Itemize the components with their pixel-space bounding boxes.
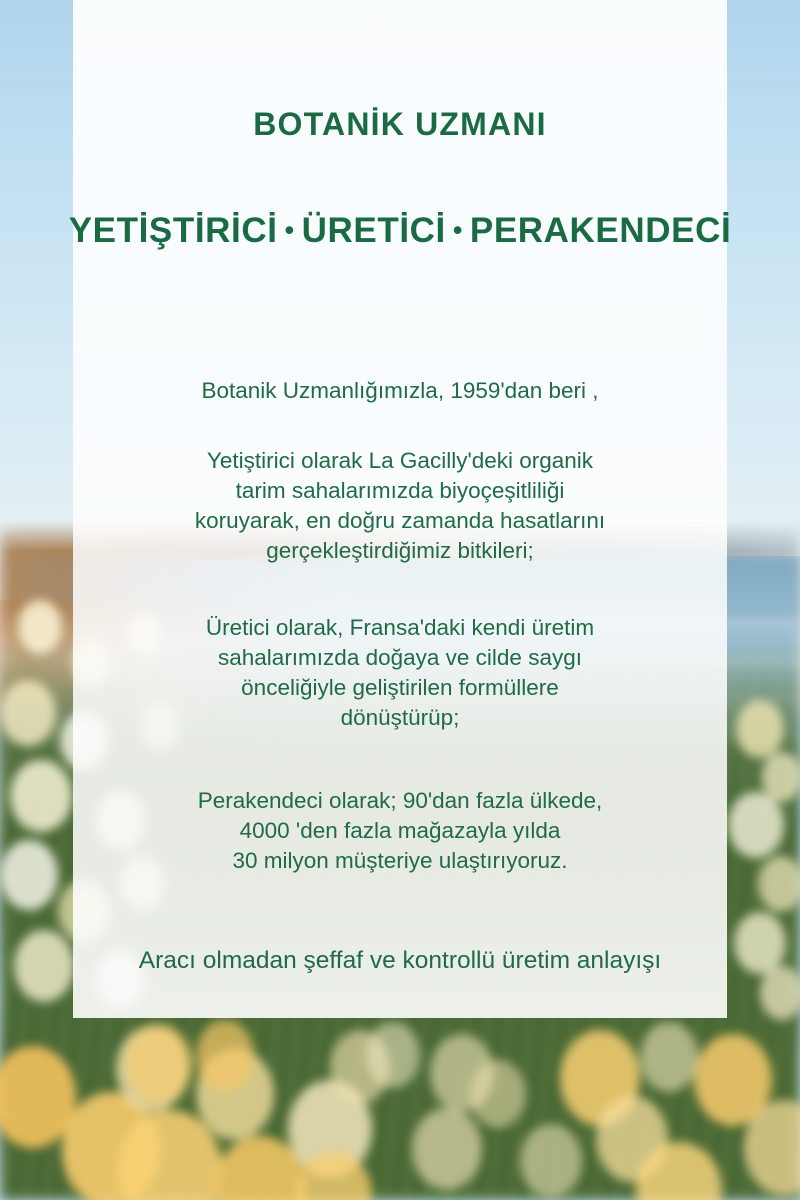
subtitle-part-producer: ÜRETİCİ: [302, 211, 446, 250]
paragraph-line: Yetiştirici olarak La Gacilly'deki organ…: [73, 446, 727, 476]
subtitle-part-retailer: PERAKENDECİ: [470, 211, 731, 250]
paragraph-line: Botanik Uzmanlığımızla, 1959'dan beri ,: [73, 376, 727, 406]
subtitle-separator-1: •: [278, 215, 302, 245]
paragraph-line: sahalarımızda doğaya ve cilde saygı: [73, 643, 727, 673]
paragraph-line: 4000 'den fazla mağazayla yılda: [73, 816, 727, 846]
closing-statement: Aracı olmadan şeffaf ve kontrollü üretim…: [73, 945, 727, 977]
paragraph-line: önceliğiyle geliştirilen formüllere: [73, 673, 727, 703]
subtitle-part-grower: YETİŞTİRİCİ: [69, 211, 278, 250]
subtitle-separator-2: •: [446, 215, 470, 245]
poster-root: BOTANİK UZMANI YETİŞTİRİCİ•ÜRETİCİ•PERAK…: [0, 0, 800, 1200]
subtitle-row: YETİŞTİRİCİ•ÜRETİCİ•PERAKENDECİ: [0, 211, 800, 251]
page-title: BOTANİK UZMANI: [0, 106, 800, 143]
paragraph-line: koruyarak, en doğru zamanda hasatlarını: [73, 506, 727, 536]
paragraph-line: tarim sahalarımızda biyoçeşitliliği: [73, 476, 727, 506]
paragraph-intro: Botanik Uzmanlığımızla, 1959'dan beri ,: [73, 376, 727, 406]
paragraph-line: dönüştürüp;: [73, 703, 727, 733]
paragraph-grower: Yetiştirici olarak La Gacilly'deki organ…: [73, 446, 727, 566]
paragraph-retailer: Perakendeci olarak; 90'dan fazla ülkede,…: [73, 786, 727, 876]
paragraph-line: 30 milyon müşteriye ulaştırıyoruz.: [73, 846, 727, 876]
paragraph-line: gerçekleştirdiğimiz bitkileri;: [73, 536, 727, 566]
paragraph-line: Üretici olarak, Fransa'daki kendi üretim: [73, 613, 727, 643]
paragraph-producer: Üretici olarak, Fransa'daki kendi üretim…: [73, 613, 727, 733]
poster-content: BOTANİK UZMANI YETİŞTİRİCİ•ÜRETİCİ•PERAK…: [0, 0, 800, 1200]
paragraph-line: Perakendeci olarak; 90'dan fazla ülkede,: [73, 786, 727, 816]
